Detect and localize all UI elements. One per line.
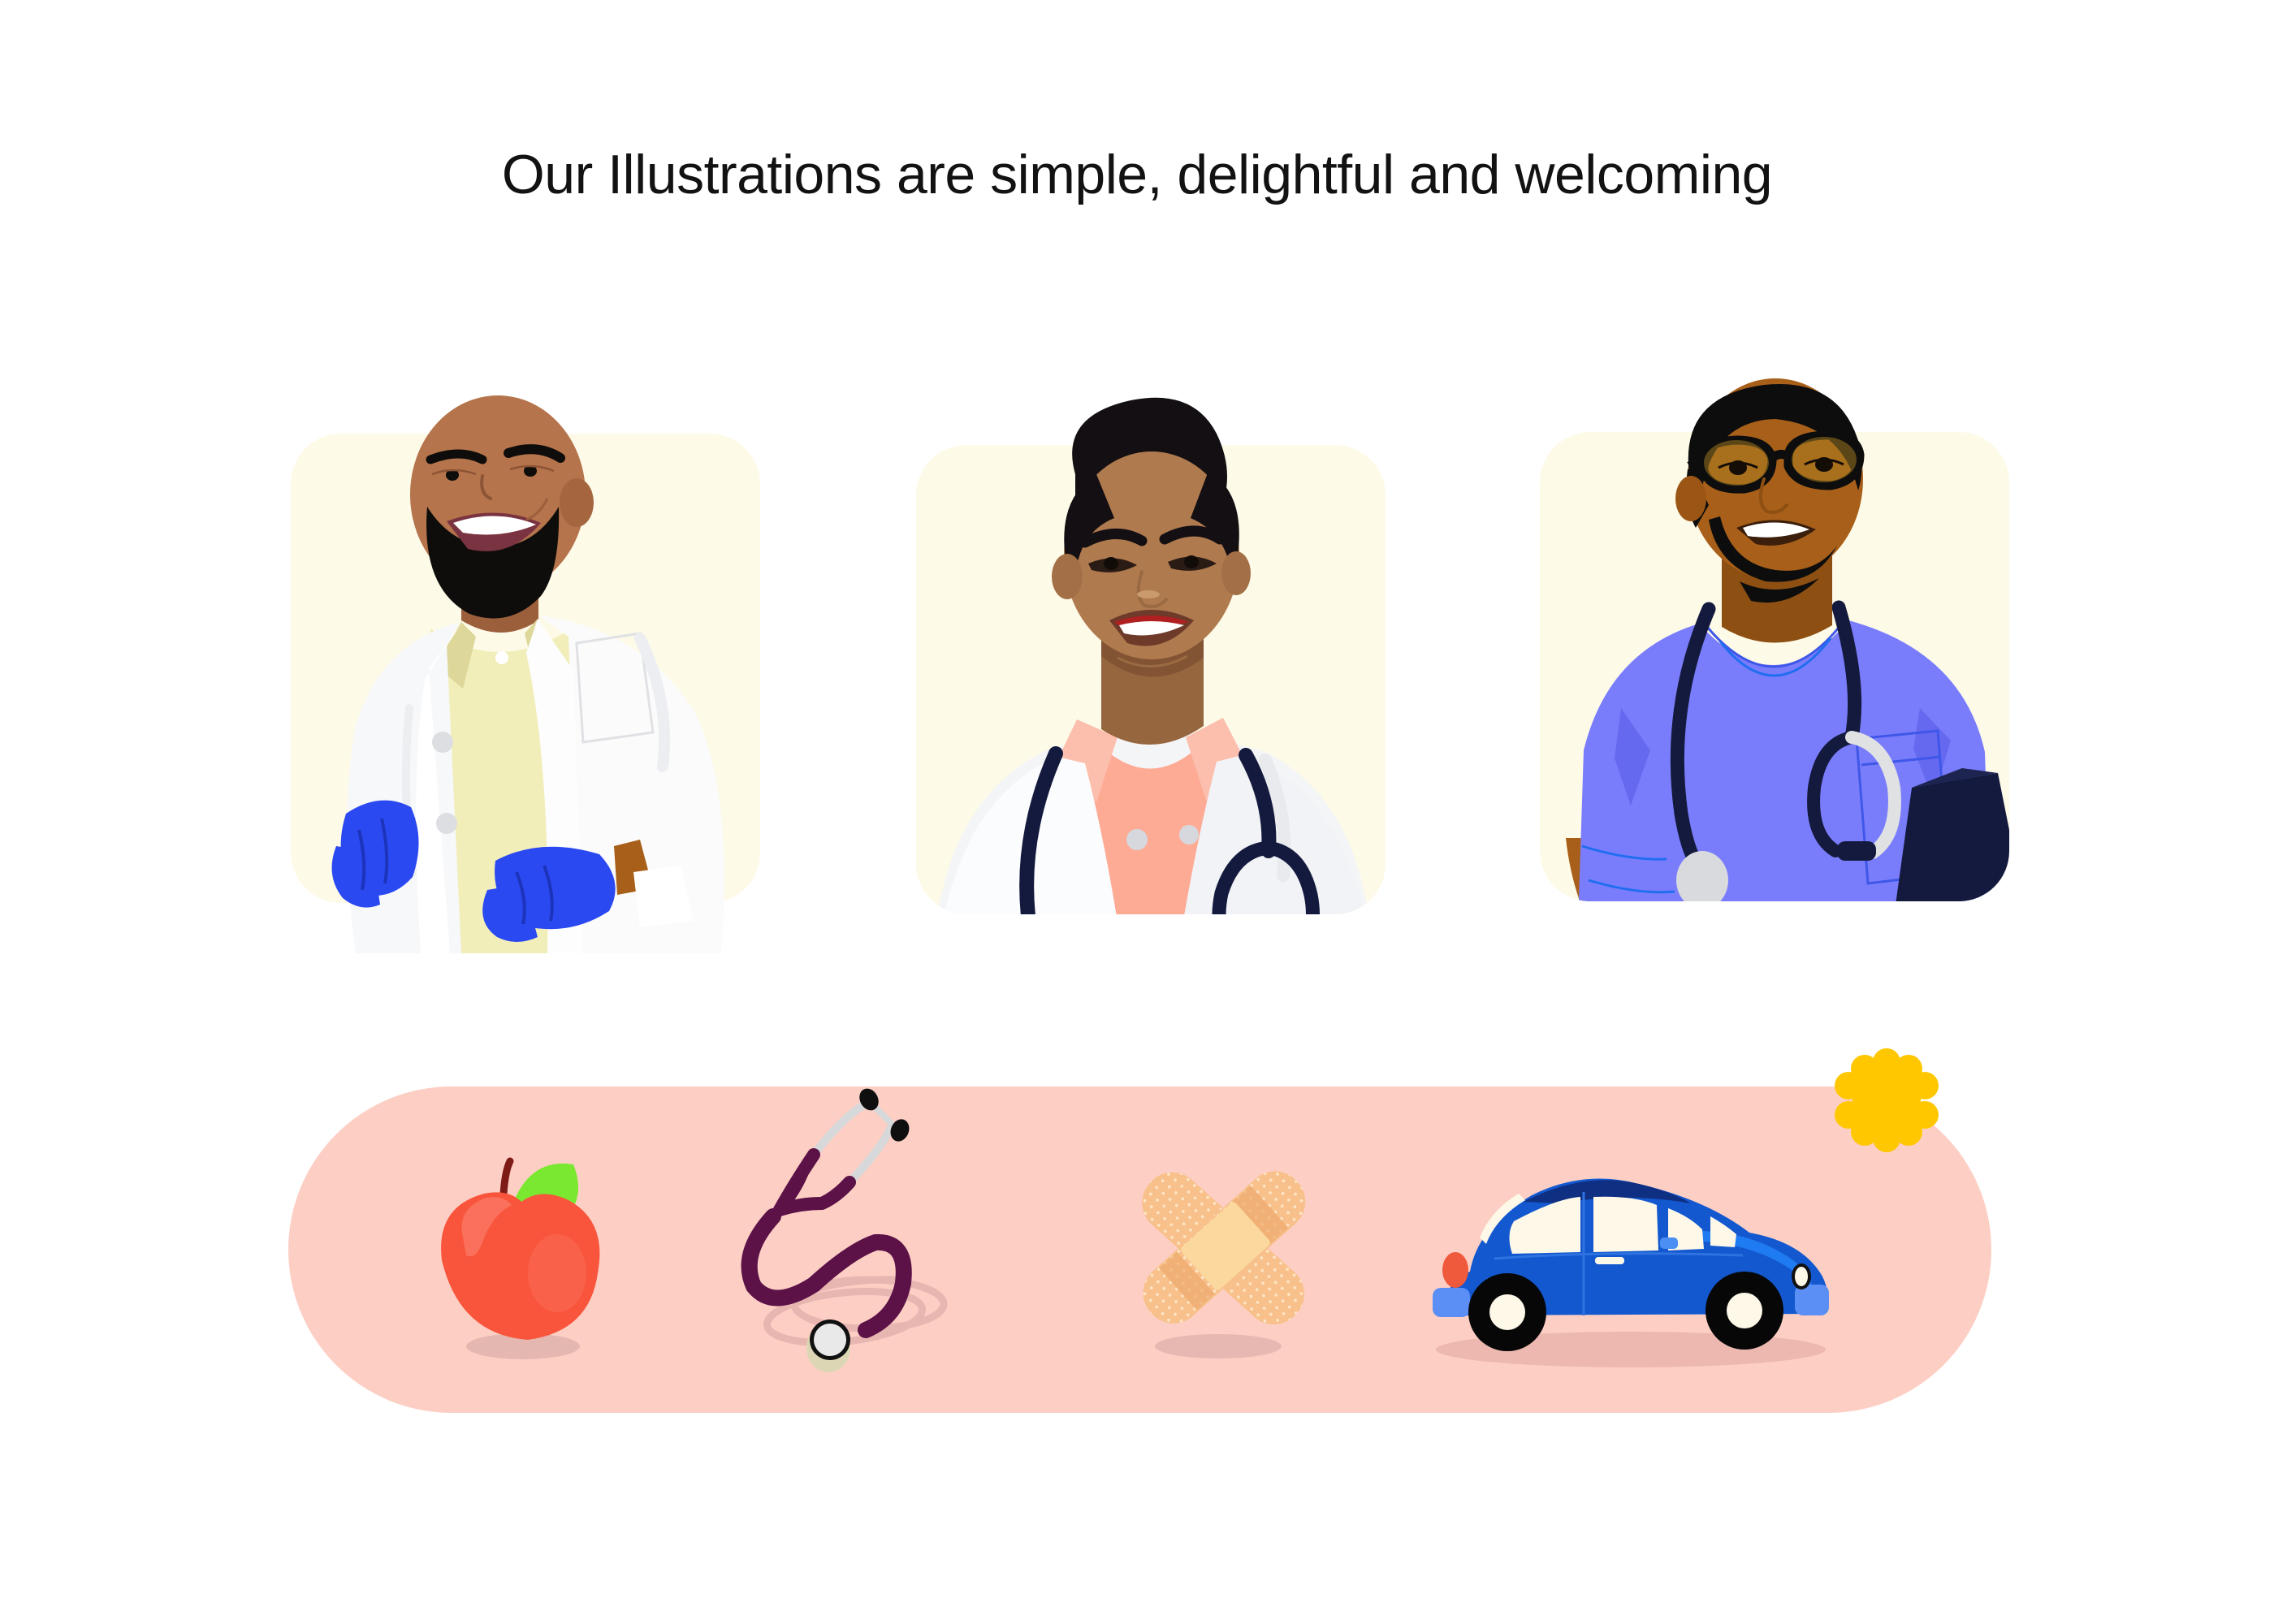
male-nurse-artwork xyxy=(1507,383,2042,952)
illustration-card-male-nurse[interactable] xyxy=(1540,432,2009,901)
car-icon[interactable] xyxy=(1421,1153,1844,1389)
female-doctor-artwork xyxy=(884,396,1418,965)
male-doctor-artwork xyxy=(258,385,793,953)
illustration-card-female-doctor[interactable] xyxy=(916,445,1386,914)
stethoscope-icon[interactable] xyxy=(723,1080,999,1372)
apple-icon[interactable] xyxy=(406,1137,633,1364)
scalloped-badge-icon[interactable] xyxy=(1834,1047,1939,1153)
illustration-showcase-page: Our Illustrations are simple, delightful… xyxy=(0,0,2274,1624)
bandage-icon[interactable] xyxy=(1105,1129,1348,1372)
illustration-card-male-doctor[interactable] xyxy=(291,434,760,903)
